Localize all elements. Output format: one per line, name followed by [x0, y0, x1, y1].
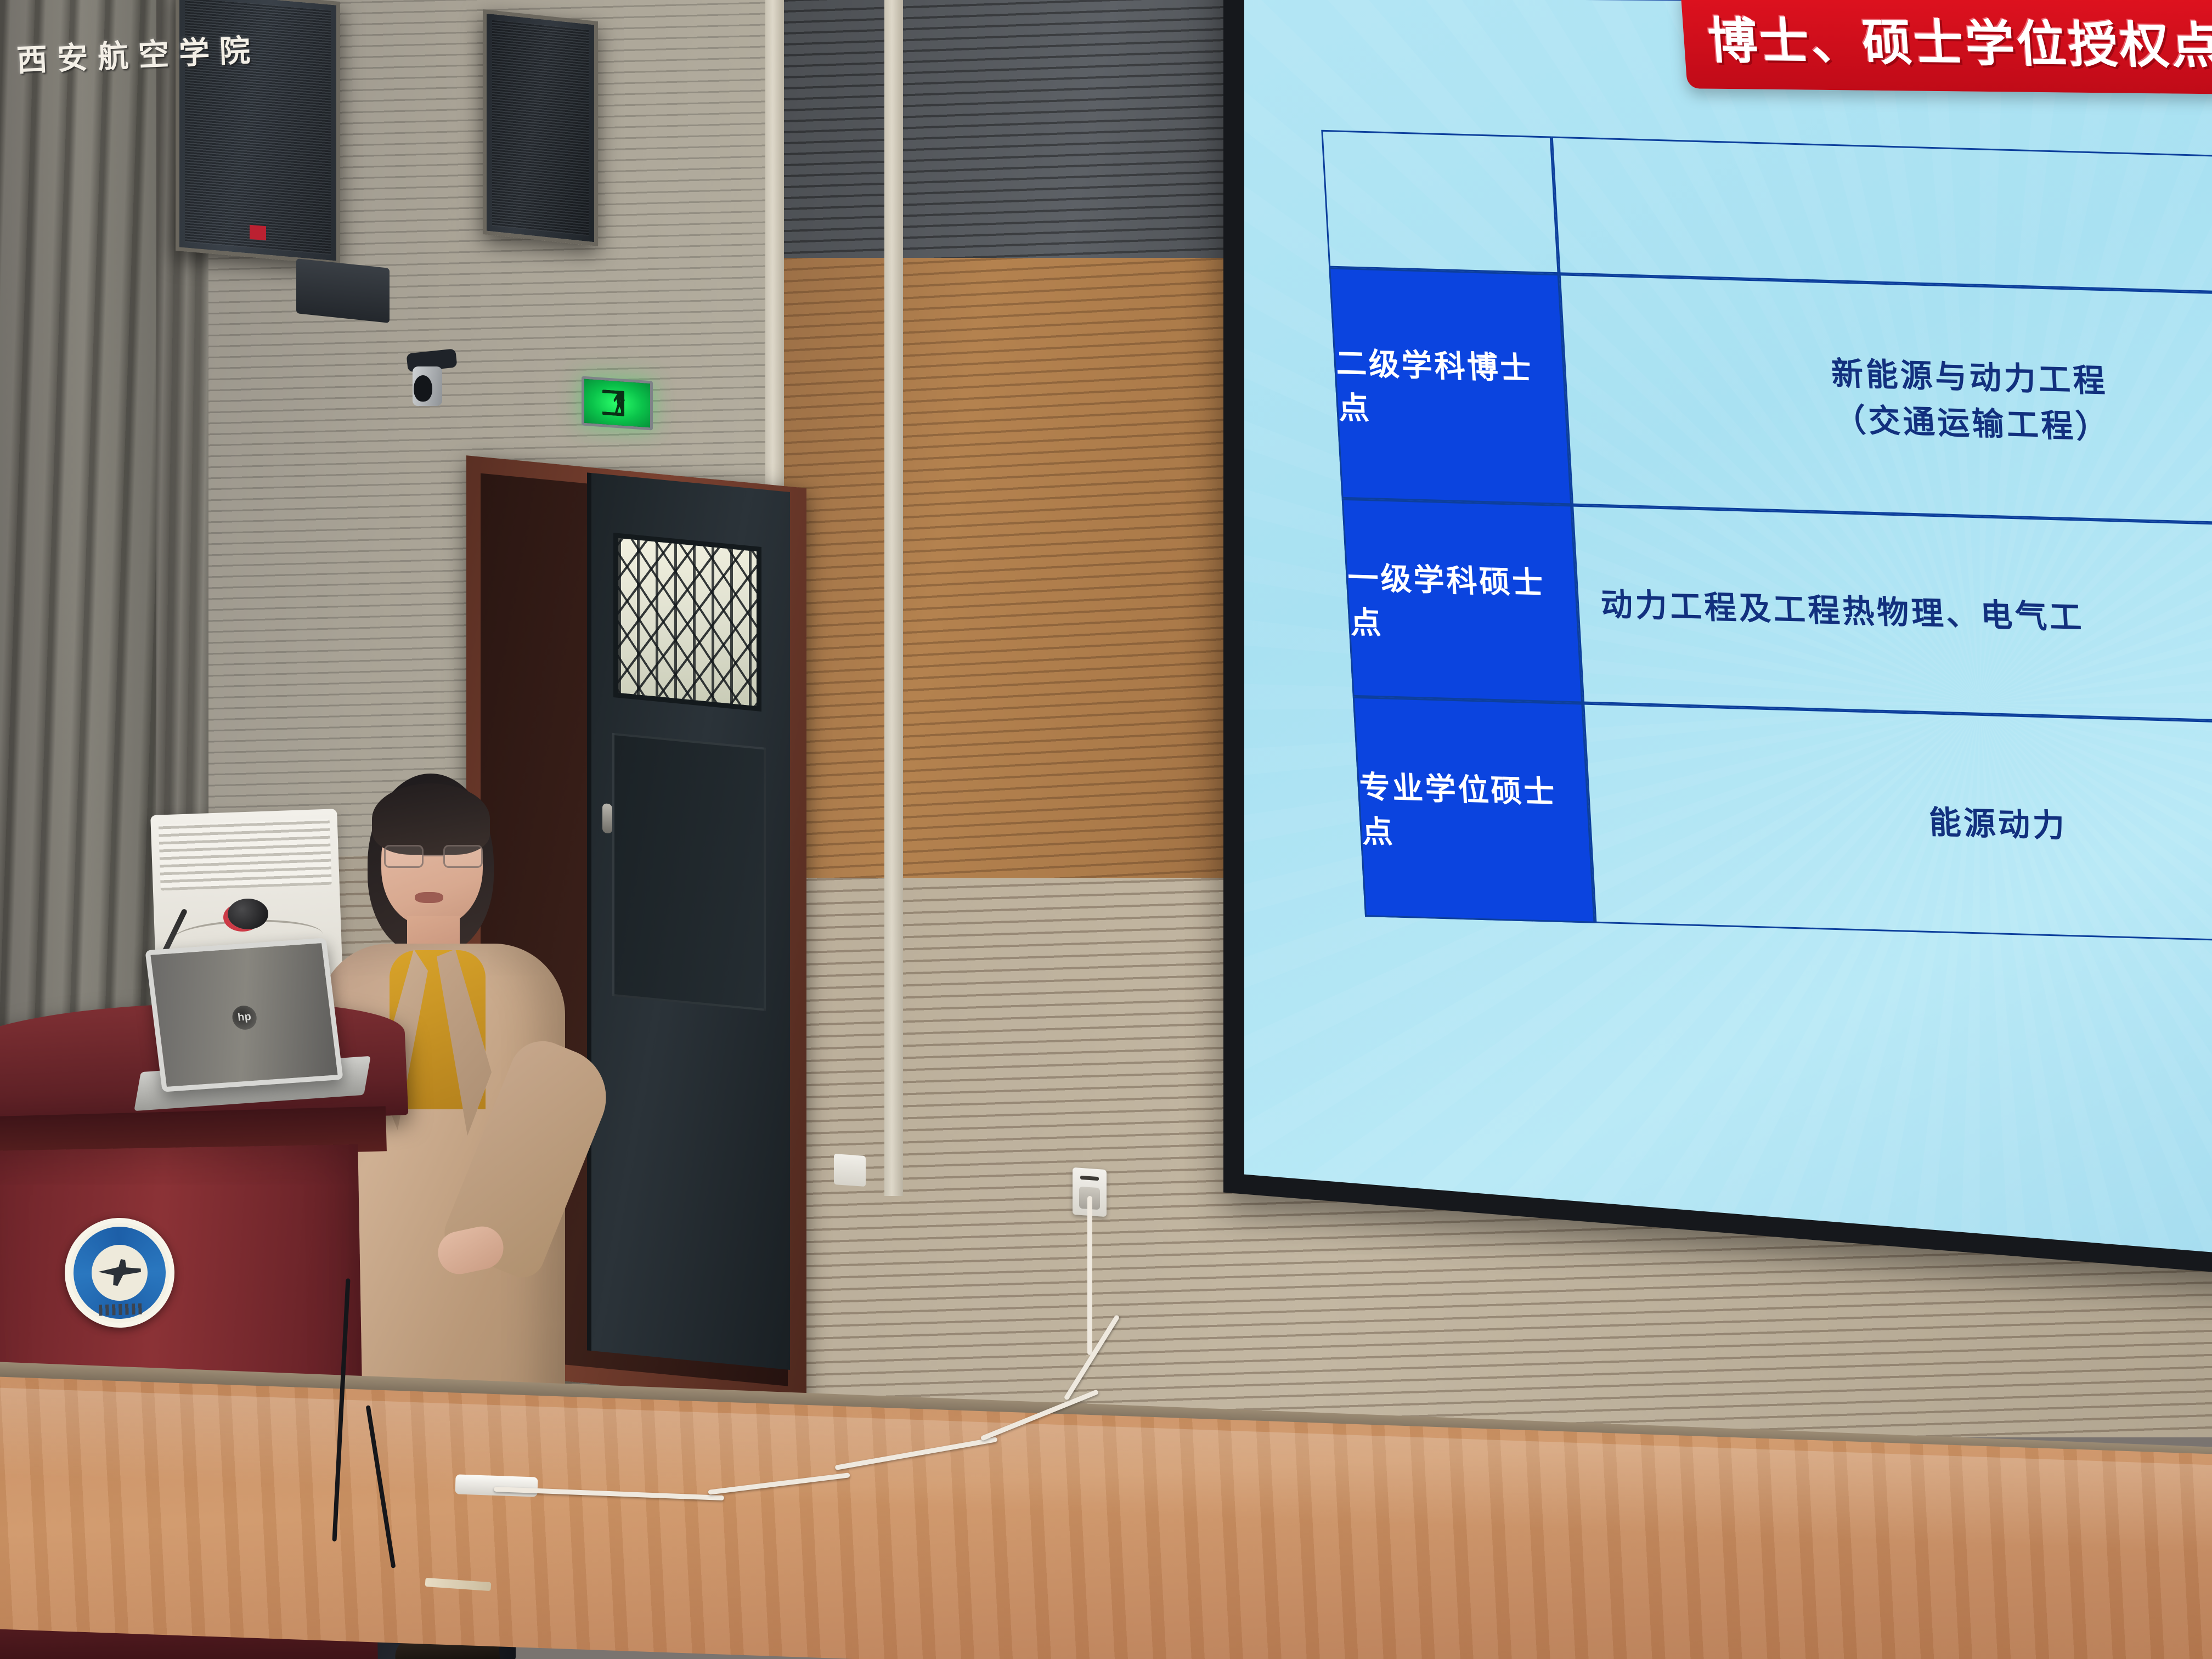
running-man-icon	[608, 388, 627, 418]
glasses-bridge	[424, 855, 443, 856]
aircraft-icon	[98, 1258, 142, 1288]
table-row-value: 动力工程及工程热物理、电气工	[1572, 505, 2212, 726]
projection-screen: 博士、硕士学位授权点 二级学科博士点 新能源与动力工程 （交通运输工程） 一级学…	[1223, 0, 2212, 1276]
table-row-value: 新能源与动力工程 （交通运输工程）	[1559, 274, 2212, 528]
ac-vents	[159, 819, 332, 891]
presentation-photo-scene: 博士、硕士学位授权点 二级学科博士点 新能源与动力工程 （交通运输工程） 一级学…	[0, 0, 2212, 1659]
speaker-mount-bracket	[296, 258, 390, 323]
table-row-value: 能源动力	[1583, 703, 2212, 946]
power-cable-wall-segment	[1087, 1196, 1092, 1355]
table-row: 一级学科硕士点 动力工程及工程热物理、电气工	[1342, 499, 2212, 726]
laptop-brand-logo: hp	[231, 1005, 258, 1030]
table-row: 二级学科博士点 新能源与动力工程 （交通运输工程）	[1329, 268, 2212, 528]
stage-curtain-left	[0, 0, 165, 1070]
table-row: 专业学位硕士点 能源动力	[1353, 697, 2212, 946]
camera-lens	[414, 375, 432, 402]
glasses-lens-left	[384, 845, 424, 868]
wall-speaker-right	[483, 9, 598, 246]
brown-wall-panel	[774, 258, 1284, 878]
door-window	[613, 533, 761, 712]
degree-authorization-table: 二级学科博士点 新能源与动力工程 （交通运输工程） 一级学科硕士点 动力工程及工…	[1321, 130, 2212, 968]
presenter-mouth	[415, 892, 443, 903]
laptop[interactable]: hp	[145, 938, 343, 1092]
gear-icon	[99, 1304, 143, 1316]
slide-title-banner: 博士、硕士学位授权点	[1680, 0, 2212, 94]
door-window-bars	[618, 538, 757, 706]
outlet-slot	[1080, 1176, 1099, 1181]
surveillance-camera-icon	[400, 351, 461, 417]
wall-outlet-secondary	[834, 1154, 866, 1187]
microphone-head-icon	[228, 899, 268, 929]
table-row-label: 一级学科硕士点	[1342, 499, 1583, 703]
emergency-exit-sign	[582, 376, 653, 430]
table-header-label	[1321, 130, 1559, 274]
dark-wall-strip	[768, 0, 1295, 274]
presenter-glasses	[384, 845, 483, 868]
table-row-label: 二级学科博士点	[1329, 268, 1572, 505]
table-row-label: 专业学位硕士点	[1353, 697, 1595, 923]
glasses-lens-right	[443, 845, 483, 868]
presentation-slide: 博士、硕士学位授权点 二级学科博士点 新能源与动力工程 （交通运输工程） 一级学…	[1244, 0, 2212, 1256]
power-strip[interactable]	[455, 1474, 538, 1497]
exit-sign-face	[584, 379, 650, 427]
presenter-hair-front	[372, 783, 490, 855]
wall-pillar-mid	[884, 0, 903, 1196]
slide-title-text: 博士、硕士学位授权点	[1706, 14, 2212, 74]
speaker-brand-badge	[250, 225, 266, 241]
speaker-grille	[492, 20, 589, 236]
table-header-value	[1551, 137, 2212, 297]
